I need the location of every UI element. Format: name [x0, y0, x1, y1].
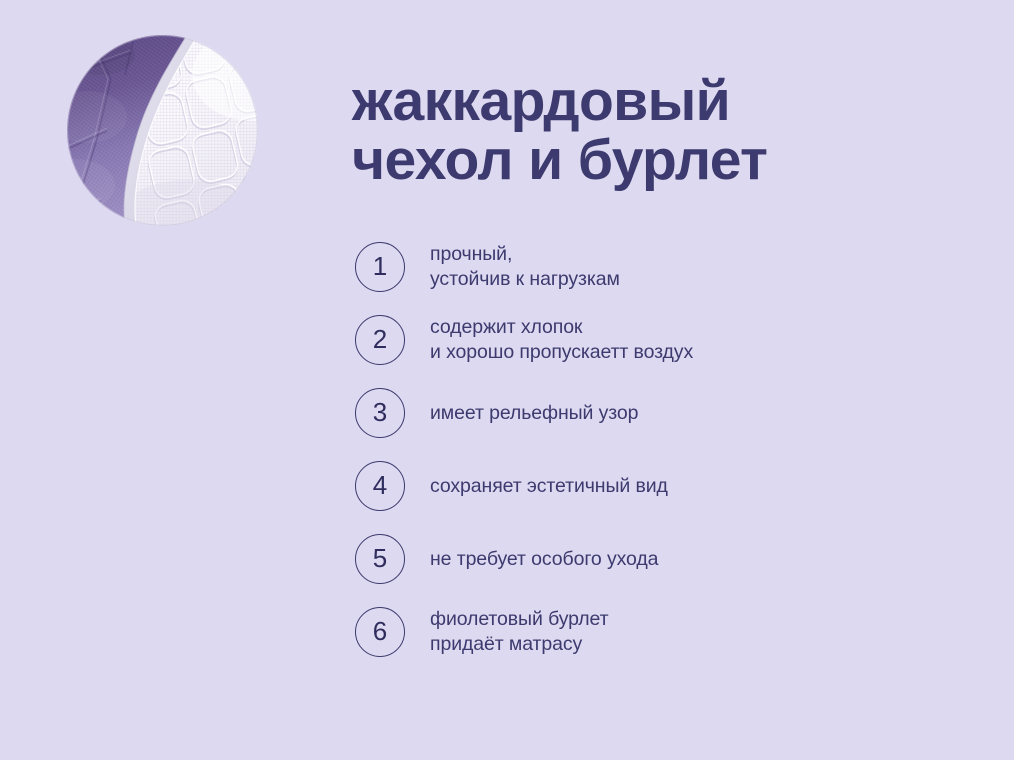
feature-text-line: фиолетовый бурлет	[430, 607, 970, 632]
feature-text-line: придаёт матрасу	[430, 632, 970, 657]
feature-text: не требует особого ухода	[430, 534, 970, 584]
list-item: 3 имеет рельефный узор	[355, 388, 975, 461]
feature-text: прочный, устойчив к нагрузкам	[430, 242, 970, 292]
feature-number-badge: 1	[355, 242, 405, 292]
page-title: жаккардовый чехол и бурлет	[352, 72, 1002, 189]
feature-text-line: не требует особого ухода	[430, 547, 970, 572]
product-feature-poster: жаккардовый чехол и бурлет 1 прочный, ус…	[0, 0, 1014, 760]
feature-text: сохраняет эстетичный вид	[430, 461, 970, 511]
feature-number-badge: 3	[355, 388, 405, 438]
feature-text-line: имеет рельефный узор	[430, 401, 970, 426]
product-photo	[67, 35, 258, 226]
feature-number-badge: 2	[355, 315, 405, 365]
list-item: 1 прочный, устойчив к нагрузкам	[355, 242, 975, 315]
feature-text: фиолетовый бурлет придаёт матрасу	[430, 607, 970, 657]
feature-text-line: сохраняет эстетичный вид	[430, 474, 970, 499]
page-title-line-2: чехол и бурлет	[352, 131, 1002, 190]
product-photo-artwork	[67, 35, 258, 226]
feature-list: 1 прочный, устойчив к нагрузкам 2 содерж…	[355, 242, 975, 680]
feature-text: имеет рельефный узор	[430, 388, 970, 438]
feature-number-badge: 6	[355, 607, 405, 657]
feature-number-badge: 4	[355, 461, 405, 511]
list-item: 4 сохраняет эстетичный вид	[355, 461, 975, 534]
feature-number-badge: 5	[355, 534, 405, 584]
page-title-line-1: жаккардовый	[352, 72, 1002, 131]
list-item: 6 фиолетовый бурлет придаёт матрасу	[355, 607, 975, 680]
feature-text: содержит хлопок и хорошо пропускаетт воз…	[430, 315, 970, 365]
list-item: 2 содержит хлопок и хорошо пропускаетт в…	[355, 315, 975, 388]
feature-text-line: содержит хлопок	[430, 315, 970, 340]
feature-text-line: и хорошо пропускаетт воздух	[430, 340, 970, 365]
feature-text-line: устойчив к нагрузкам	[430, 267, 970, 292]
list-item: 5 не требует особого ухода	[355, 534, 975, 607]
feature-text-line: прочный,	[430, 242, 970, 267]
